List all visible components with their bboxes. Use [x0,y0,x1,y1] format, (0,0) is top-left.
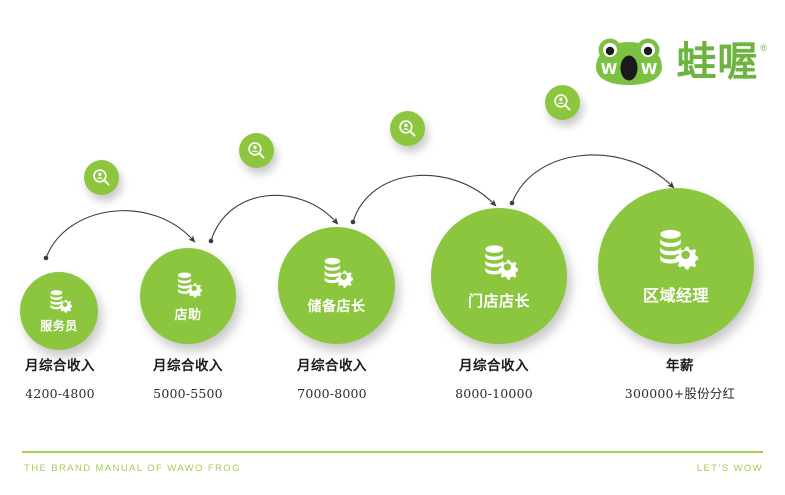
slide-canvas: W W 蛙喔 ® [0,0,785,495]
stage-label-4: 门店店长 [468,290,530,311]
footer-right-text: LET'S WOW [697,463,763,474]
svg-text:W: W [601,60,618,78]
search-person-icon [247,141,266,160]
caption-value-1: 4200-4800 [0,388,120,401]
frog-face-icon: W W [592,36,666,88]
marker-pin-3[interactable] [390,111,425,146]
coins-gear-icon [480,242,518,280]
caption-block-1: 月综合收入 4200-4800 [0,360,120,400]
caption-title-1: 月综合收入 [0,360,120,374]
stage-label-2: 店助 [174,304,201,323]
stage-label-5: 区域经理 [643,282,709,306]
svg-text:W: W [641,60,658,78]
coins-gear-icon [654,226,698,270]
marker-pin-2[interactable] [239,133,274,168]
stage-circle-1[interactable]: 服务员 [20,272,98,350]
marker-pin-1[interactable] [84,160,119,195]
footer-left-text: THE BRAND MANUAL OF WAWO FROG [24,463,241,474]
caption-block-4: 月综合收入 8000-10000 [429,360,559,400]
coins-gear-icon [47,288,72,313]
coins-gear-icon [320,255,353,288]
search-person-icon [398,119,417,138]
caption-block-2: 月综合收入 5000-5500 [128,360,248,400]
stage-label-3: 储备店长 [308,296,366,316]
caption-title-4: 月综合收入 [429,360,559,374]
caption-title-2: 月综合收入 [128,360,248,374]
footer-divider [22,451,763,453]
brand-wordmark: 蛙喔 ® [676,42,767,82]
stage-circle-3[interactable]: 储备店长 [278,227,395,344]
brand-logo: W W 蛙喔 ® [592,36,767,88]
caption-title-5: 年薪 [600,360,760,374]
caption-value-3: 7000-8000 [272,388,392,401]
caption-value-5: 300000+股份分红 [600,388,760,401]
caption-title-3: 月综合收入 [272,360,392,374]
stage-label-1: 服务员 [40,317,78,334]
stage-circle-5[interactable]: 区域经理 [598,188,754,344]
coins-gear-icon [174,270,202,298]
caption-value-2: 5000-5500 [128,388,248,401]
caption-block-3: 月综合收入 7000-8000 [272,360,392,400]
stage-circle-4[interactable]: 门店店长 [431,208,567,344]
search-person-icon [92,168,111,187]
stage-circle-2[interactable]: 店助 [140,248,236,344]
caption-block-5: 年薪 300000+股份分红 [600,360,760,400]
registered-mark: ® [760,43,767,53]
brand-name: 蛙喔 [676,42,758,82]
search-person-icon [553,93,572,112]
caption-value-4: 8000-10000 [429,388,559,401]
marker-pin-4[interactable] [545,85,580,120]
